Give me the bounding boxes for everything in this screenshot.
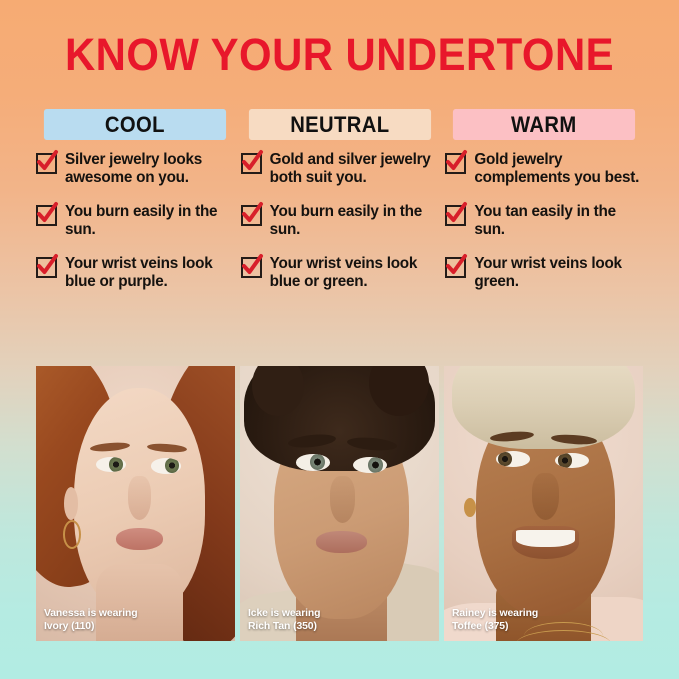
model-photo-vanessa: Vanessa is wearing Ivory (110) bbox=[36, 366, 235, 641]
list-item[interactable]: You burn easily in the sun. bbox=[241, 203, 439, 238]
caption-line-1: Icke is wearing bbox=[248, 608, 320, 620]
checklist-warm: Gold jewelry complements you best. You t… bbox=[445, 151, 643, 291]
portrait-illustration bbox=[240, 366, 439, 641]
photo-caption: Icke is wearing Rich Tan (350) bbox=[248, 608, 320, 633]
list-item[interactable]: Your wrist veins look blue or purple. bbox=[36, 255, 234, 290]
list-item[interactable]: Your wrist veins look green. bbox=[445, 255, 643, 290]
list-item-label: Gold jewelry complements you best. bbox=[474, 151, 643, 186]
caption-line-2: Toffee (375) bbox=[452, 621, 538, 633]
checklist-neutral: Gold and silver jewelry both suit you. Y… bbox=[241, 151, 439, 291]
page-title: KNOW YOUR UNDERTONE bbox=[24, 31, 655, 79]
portrait-illustration bbox=[36, 366, 235, 641]
list-item[interactable]: Your wrist veins look blue or green. bbox=[241, 255, 439, 290]
checkbox-checked-icon[interactable] bbox=[445, 205, 466, 226]
hoop-earring-icon bbox=[63, 520, 81, 549]
list-item[interactable]: Gold and silver jewelry both suit you. bbox=[241, 151, 439, 186]
list-item-label: You burn easily in the sun. bbox=[270, 203, 439, 238]
list-item-label: Your wrist veins look green. bbox=[474, 255, 643, 290]
undertone-columns: COOL Silver jewelry looks awesome on you… bbox=[36, 109, 643, 308]
photo-caption: Vanessa is wearing Ivory (110) bbox=[44, 608, 138, 633]
column-header-neutral: NEUTRAL bbox=[249, 109, 431, 140]
list-item-label: Silver jewelry looks awesome on you. bbox=[65, 151, 234, 186]
checkbox-checked-icon[interactable] bbox=[241, 205, 262, 226]
caption-line-2: Ivory (110) bbox=[44, 621, 138, 633]
caption-line-1: Rainey is wearing bbox=[452, 608, 538, 620]
checklist-cool: Silver jewelry looks awesome on you. You… bbox=[36, 151, 234, 291]
caption-line-2: Rich Tan (350) bbox=[248, 621, 320, 633]
caption-line-1: Vanessa is wearing bbox=[44, 608, 138, 620]
list-item-label: You tan easily in the sun. bbox=[474, 203, 643, 238]
stud-earring-icon bbox=[464, 498, 476, 517]
model-photo-icke: Icke is wearing Rich Tan (350) bbox=[240, 366, 439, 641]
portrait-illustration bbox=[444, 366, 643, 641]
checkbox-checked-icon[interactable] bbox=[241, 153, 262, 174]
undertone-infographic: KNOW YOUR UNDERTONE COOL Silver jewelry … bbox=[0, 0, 679, 679]
column-header-cool: COOL bbox=[44, 109, 226, 140]
list-item-label: Gold and silver jewelry both suit you. bbox=[270, 151, 439, 186]
list-item-label: You burn easily in the sun. bbox=[65, 203, 234, 238]
list-item[interactable]: Silver jewelry looks awesome on you. bbox=[36, 151, 234, 186]
list-item[interactable]: Gold jewelry complements you best. bbox=[445, 151, 643, 186]
list-item[interactable]: You tan easily in the sun. bbox=[445, 203, 643, 238]
checkbox-checked-icon[interactable] bbox=[241, 257, 262, 278]
checkbox-checked-icon[interactable] bbox=[36, 257, 57, 278]
list-item-label: Your wrist veins look blue or green. bbox=[270, 255, 439, 290]
checkbox-checked-icon[interactable] bbox=[36, 205, 57, 226]
model-photo-rainey: Rainey is wearing Toffee (375) bbox=[444, 366, 643, 641]
column-header-warm: WARM bbox=[453, 109, 635, 140]
column-warm: WARM Gold jewelry complements you best. … bbox=[445, 109, 643, 308]
list-item[interactable]: You burn easily in the sun. bbox=[36, 203, 234, 238]
checkbox-checked-icon[interactable] bbox=[445, 153, 466, 174]
model-photos: Vanessa is wearing Ivory (110) bbox=[36, 366, 643, 641]
checkbox-checked-icon[interactable] bbox=[445, 257, 466, 278]
column-cool: COOL Silver jewelry looks awesome on you… bbox=[36, 109, 234, 308]
checkbox-checked-icon[interactable] bbox=[36, 153, 57, 174]
photo-caption: Rainey is wearing Toffee (375) bbox=[452, 608, 538, 633]
list-item-label: Your wrist veins look blue or purple. bbox=[65, 255, 234, 290]
column-neutral: NEUTRAL Gold and silver jewelry both sui… bbox=[241, 109, 439, 308]
